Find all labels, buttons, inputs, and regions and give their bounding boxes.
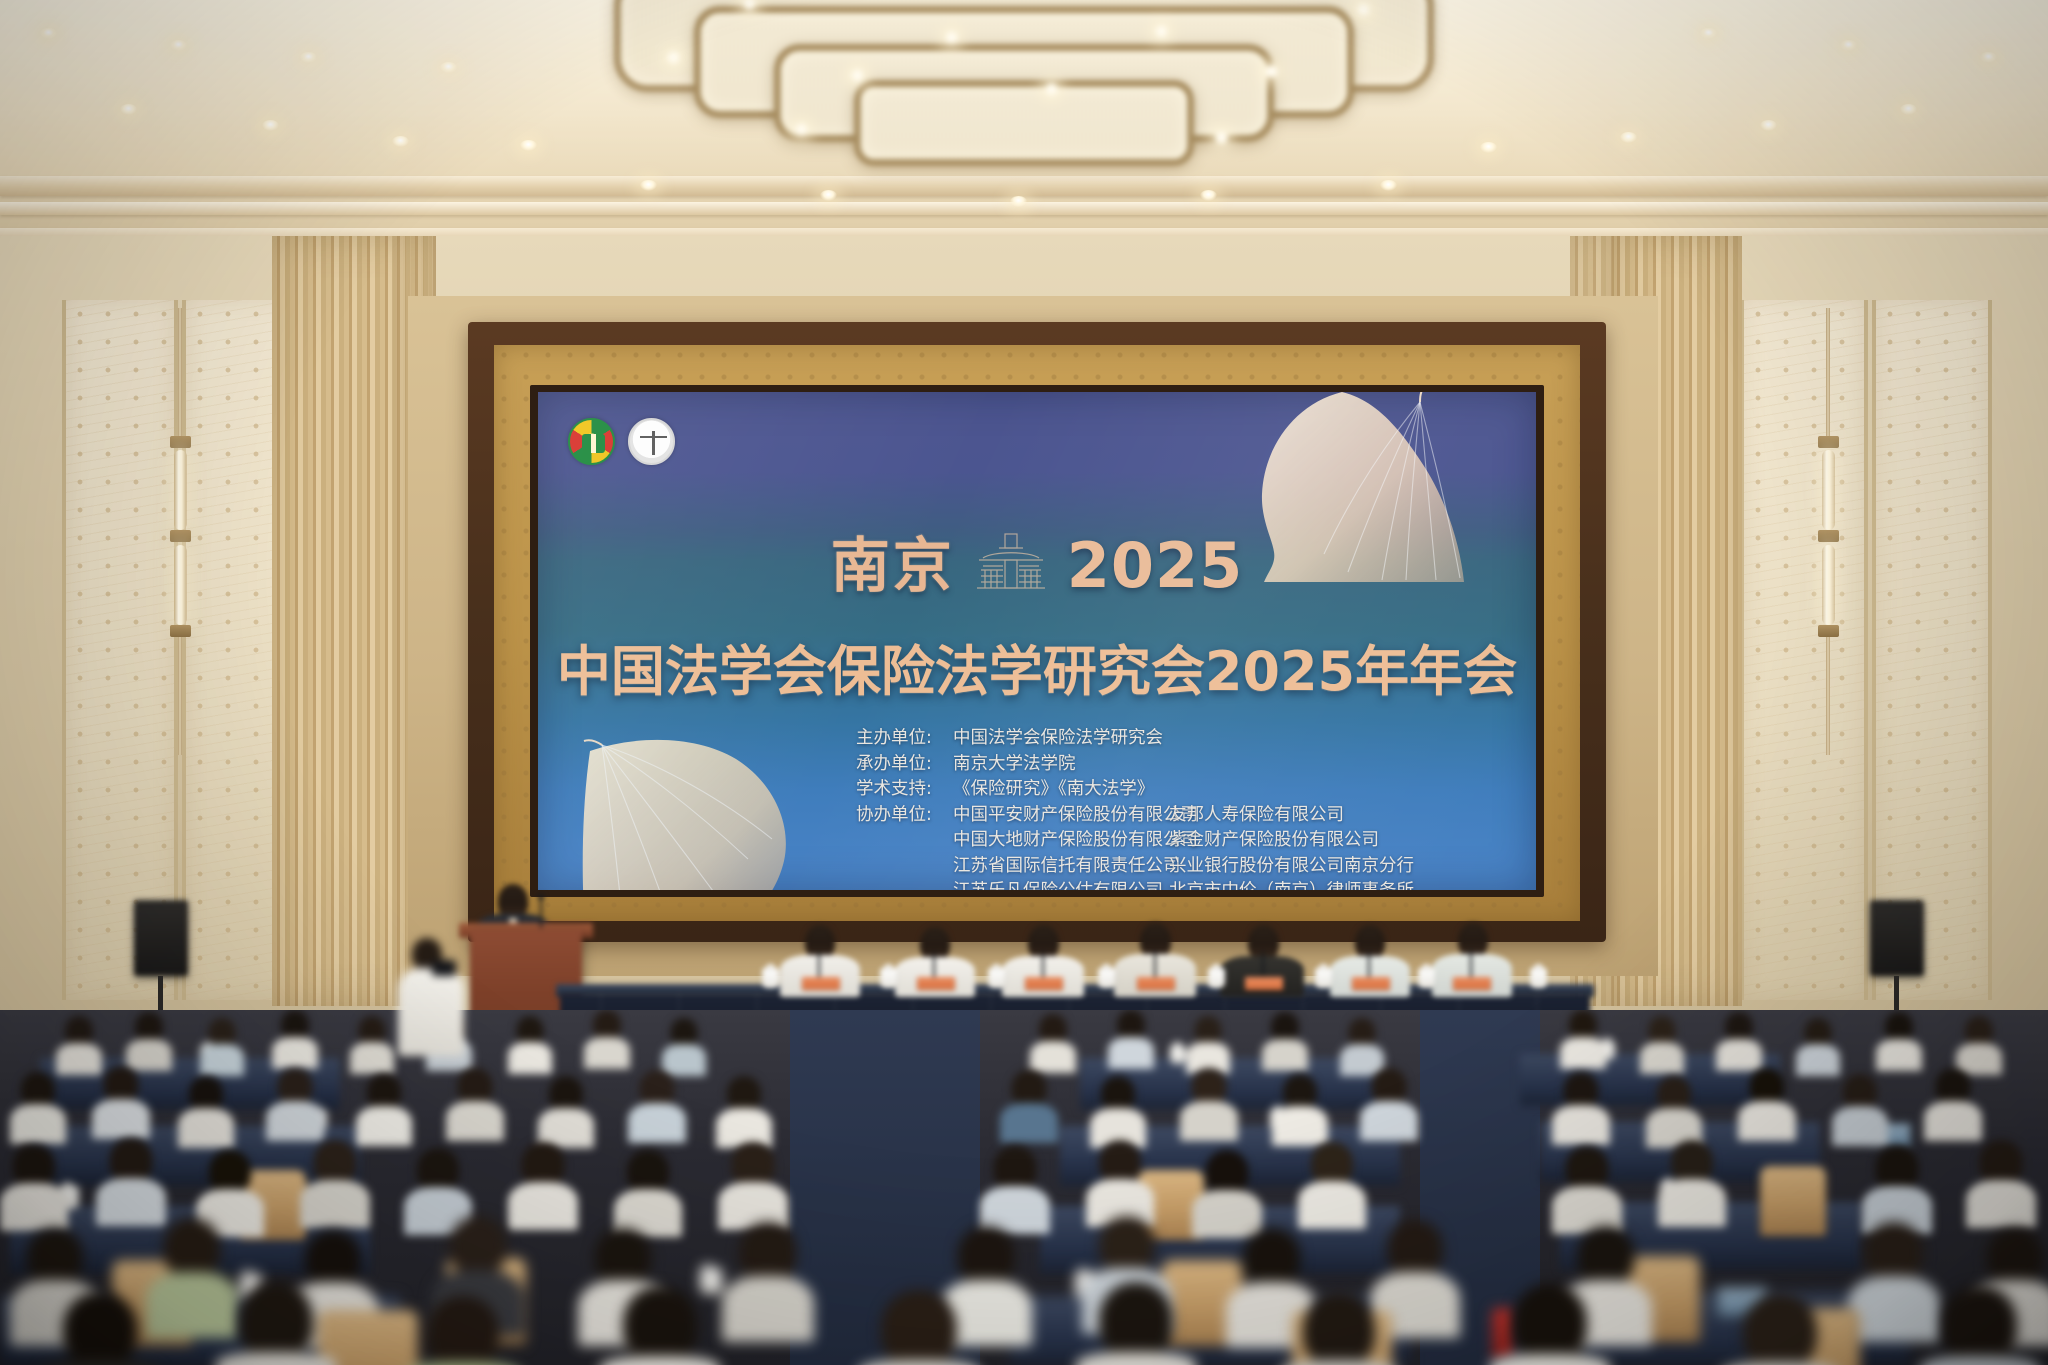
panelist-head — [1458, 923, 1488, 958]
screen-city-label: 南京 — [831, 538, 955, 594]
screen-credits-block: 主办单位: 中国法学会保险法学研究会 承办单位: 南京大学法学院 学术支持: 《… — [856, 726, 1414, 890]
attendee — [1490, 1284, 1610, 1365]
coorganizer-name: 兴业银行股份有限公司南京分行 — [1169, 854, 1414, 880]
sconce-rod — [178, 308, 182, 438]
attendee — [718, 1142, 788, 1220]
attendee — [196, 1150, 264, 1228]
attendee — [126, 1012, 172, 1064]
attendee — [92, 1066, 150, 1130]
camera — [432, 960, 456, 976]
coorganizer-label: 协办单位: — [856, 803, 953, 829]
credit-label: 承办单位: — [856, 752, 953, 778]
ceiling — [0, 0, 2048, 250]
attendee — [1280, 1292, 1398, 1365]
teacup — [1170, 1046, 1185, 1064]
attendee — [178, 1076, 234, 1140]
attendee — [300, 1140, 370, 1218]
credit-row-coorganizer-1: 协办单位: 中国平安财产保险股份有限公司 友邦人寿保险有限公司 — [856, 803, 1414, 829]
panelist-teacup — [880, 968, 897, 988]
conference-hall-photo: 南京 2025 中国法学会保险 — [0, 0, 2048, 1365]
attendee — [538, 1076, 594, 1140]
attendee — [1262, 1012, 1308, 1064]
attendee — [1076, 1282, 1196, 1365]
audience-seating-area — [0, 1010, 2048, 1365]
panelist-nameplate — [1137, 977, 1175, 990]
coorganizer-name: 江苏乐凡保险公估有限公司 — [953, 879, 1169, 890]
attendee — [1108, 1010, 1154, 1062]
pa-speaker-left — [134, 900, 188, 976]
screen-year-label: 2025 — [1067, 537, 1244, 594]
chair — [1760, 1166, 1826, 1236]
sconce-rod — [178, 637, 182, 755]
attendee — [662, 1018, 706, 1070]
attendee — [1966, 1140, 2036, 1218]
sconce-cap — [170, 436, 191, 448]
wall-sconce-right — [1822, 545, 1835, 625]
attendee — [1716, 1012, 1762, 1064]
sconce-rod — [1826, 308, 1830, 438]
attendee — [980, 1146, 1050, 1224]
attendee — [1298, 1142, 1366, 1220]
attendee — [1272, 1074, 1328, 1138]
attendee — [1920, 1286, 2040, 1365]
wall-sconce-right — [1822, 450, 1835, 530]
credit-row-coorganizer-2: 中国大地财产保险股份有限公司 紫金财产保险股份有限公司 — [856, 828, 1414, 854]
attendee — [1030, 1014, 1076, 1066]
panelist-torso — [1432, 954, 1512, 997]
coorganizer-name: 江苏省国际信托有限责任公司 — [953, 854, 1169, 880]
photographer — [398, 938, 464, 1056]
credit-label: 学术支持: — [856, 777, 953, 803]
attendee — [722, 1222, 814, 1332]
attendee — [56, 1016, 102, 1068]
attendee — [1086, 1140, 1154, 1218]
coorganizer-name: 中国平安财产保险股份有限公司 — [953, 803, 1169, 829]
attendee — [1000, 1070, 1058, 1134]
china-law-society-logo — [568, 418, 615, 465]
attendee — [404, 1148, 472, 1226]
pa-speaker-right — [1870, 900, 1924, 976]
attendee — [1876, 1012, 1922, 1064]
sconce-cap — [1818, 436, 1839, 448]
podium-microphone-head — [538, 894, 544, 900]
credit-value: 中国法学会保险法学研究会 — [953, 726, 1163, 752]
credit-row-coorganizer-4: 江苏乐凡保险公估有限公司 北京市中伦（南京）律师事务所 — [856, 879, 1414, 890]
attendee — [1738, 1068, 1796, 1132]
credit-value: 《保险研究》《南大法学》 — [953, 777, 1154, 803]
wall-panel-right — [1740, 300, 1868, 1000]
sconce-cap — [170, 530, 191, 542]
attendee — [1862, 1146, 1932, 1224]
wall-panel-left — [62, 300, 178, 1000]
attendee — [216, 1282, 336, 1365]
credit-label: 主办单位: — [856, 726, 953, 752]
attendee — [508, 1142, 578, 1220]
attendee — [1832, 1074, 1888, 1138]
attendee — [1640, 1016, 1684, 1068]
attendee — [200, 1018, 244, 1070]
panelist-nameplate — [1453, 977, 1491, 990]
attendee — [1658, 1140, 1726, 1218]
panelist-teacup — [1208, 968, 1225, 988]
panelist-teacup — [1530, 968, 1547, 988]
attendee — [350, 1016, 394, 1068]
attendee — [1646, 1076, 1702, 1140]
panelist-teacup — [988, 968, 1005, 988]
attendee — [266, 1068, 324, 1132]
coorganizer-name: 中国大地财产保险股份有限公司 — [953, 828, 1169, 854]
credit-spacer — [856, 828, 953, 854]
attendee — [1720, 1294, 1840, 1365]
coorganizer-name: 北京市中伦（南京）律师事务所 — [1169, 879, 1414, 890]
screen-logo-group — [568, 418, 675, 465]
credit-spacer — [856, 854, 953, 880]
credit-spacer — [856, 879, 953, 890]
attendee — [1552, 1072, 1610, 1136]
panelist-teacup — [1315, 968, 1332, 988]
credit-row-academic-support: 学术支持: 《保险研究》《南大法学》 — [856, 777, 1414, 803]
attendee — [272, 1010, 318, 1062]
attendee — [40, 1292, 160, 1365]
attendee — [0, 1144, 68, 1222]
wall-sconce-left — [174, 450, 187, 530]
attendee — [858, 1290, 980, 1365]
credit-row-coorganizer-3: 江苏省国际信托有限责任公司 兴业银行股份有限公司南京分行 — [856, 854, 1414, 880]
panelist-nameplate — [1245, 977, 1283, 990]
attendee — [1796, 1018, 1840, 1070]
panelist-nameplate — [802, 977, 840, 990]
nanjing-gate-building-icon — [969, 530, 1053, 592]
attendee — [1956, 1016, 2002, 1068]
coorganizer-name: 紫金财产保险股份有限公司 — [1169, 828, 1379, 854]
ginkgo-face-bottom-left-icon — [578, 729, 828, 890]
attendee — [1192, 1150, 1262, 1228]
sconce-cap — [1818, 530, 1839, 542]
sconce-cap — [1818, 625, 1839, 637]
attendee — [1186, 1016, 1230, 1068]
wall-panel-right — [1872, 300, 1992, 1000]
sconce-cap — [170, 625, 191, 637]
coorganizer-name: 友邦人寿保险有限公司 — [1169, 803, 1344, 829]
attendee — [716, 1076, 772, 1140]
podium-microphone — [540, 898, 542, 928]
attendee — [584, 1010, 630, 1062]
attendee — [356, 1074, 412, 1138]
attendee — [600, 1286, 720, 1365]
attendee — [404, 1296, 522, 1365]
attendee — [10, 1072, 66, 1136]
panelist-head — [1355, 925, 1385, 960]
nju-law-school-logo — [628, 418, 675, 465]
sconce-rod — [1826, 637, 1830, 755]
panelist-teacup — [762, 968, 779, 988]
credit-row-organizer: 承办单位: 南京大学法学院 — [856, 752, 1414, 778]
attendee — [1340, 1018, 1384, 1070]
panelist-torso — [780, 955, 860, 997]
attendee — [1924, 1068, 1982, 1132]
panelist-teacup — [1418, 968, 1435, 988]
panelist-teacup — [1098, 968, 1115, 988]
screen-city-year-row: 南京 2025 — [538, 530, 1536, 594]
attendee — [1552, 1146, 1622, 1224]
wall-sconce-left — [174, 545, 187, 625]
chandelier — [614, 0, 1434, 187]
panelist-nameplate — [1352, 977, 1390, 990]
panelist-nameplate — [1025, 977, 1063, 990]
attendee — [96, 1138, 166, 1216]
chandelier-ring — [854, 80, 1194, 166]
attendee — [614, 1150, 682, 1228]
attendee — [1560, 1010, 1606, 1062]
credit-row-host: 主办单位: 中国法学会保险法学研究会 — [856, 726, 1414, 752]
attendee — [1090, 1076, 1146, 1140]
attendee — [1180, 1068, 1238, 1132]
screen-main-title: 中国法学会保险法学研究会2025年年会 — [538, 627, 1536, 706]
attendee — [446, 1068, 504, 1132]
led-presentation-screen: 南京 2025 中国法学会保险 — [538, 392, 1536, 890]
panelist-nameplate — [917, 977, 955, 990]
attendee — [628, 1070, 686, 1134]
attendee — [508, 1016, 552, 1068]
attendee — [1360, 1068, 1418, 1132]
credit-value: 南京大学法学院 — [953, 752, 1076, 778]
